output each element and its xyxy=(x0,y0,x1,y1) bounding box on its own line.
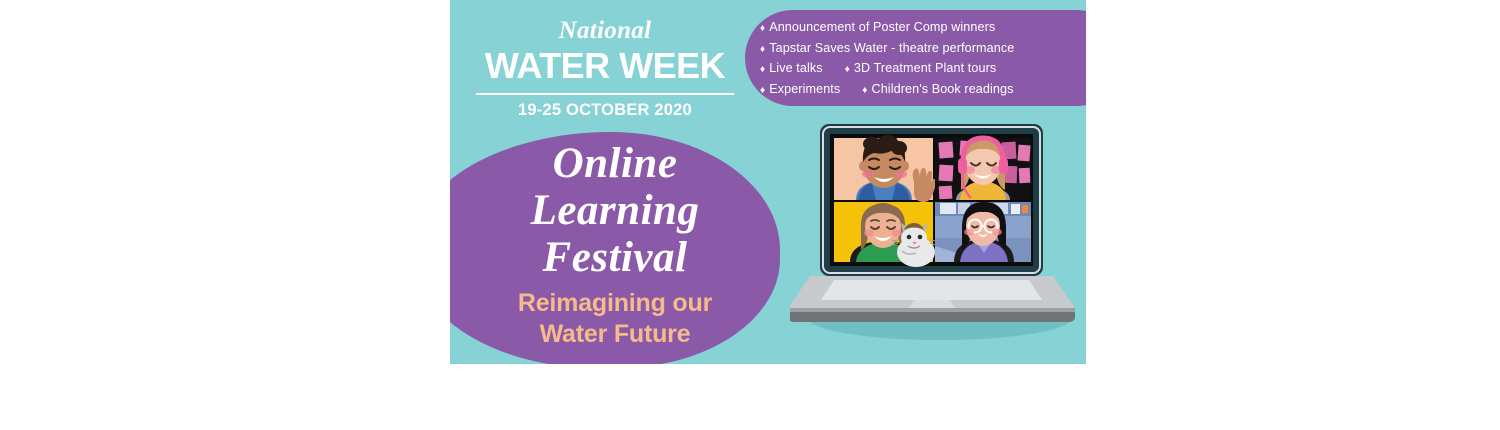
diamond-bullet-icon: ♦ xyxy=(760,81,765,101)
list-item: ♦ 3D Treatment Plant tours xyxy=(845,59,997,80)
program-highlight-row: ♦ Announcement of Poster Comp winners xyxy=(760,18,1086,39)
laptop-illustration xyxy=(790,120,1086,350)
logo-divider-rule xyxy=(476,93,734,95)
logo-water-week-word: WATER WEEK xyxy=(470,45,740,87)
logo-dates: 19-25 OCTOBER 2020 xyxy=(470,100,740,120)
list-item-label: 3D Treatment Plant tours xyxy=(854,59,996,79)
video-tile-boy-waving xyxy=(834,135,937,202)
video-tile-girl-glasses xyxy=(935,202,1031,262)
logo-national-word: National xyxy=(470,16,740,46)
festival-title-line-1: Online xyxy=(480,140,750,187)
list-item: ♦ Tapstar Saves Water - theatre performa… xyxy=(760,39,1014,60)
festival-title-group: Online Learning Festival Reimagining our… xyxy=(480,140,750,350)
festival-title-line-3: Festival xyxy=(480,234,750,281)
diamond-bullet-icon: ♦ xyxy=(760,60,765,80)
list-item-label: Experiments xyxy=(769,80,840,100)
laptop-base xyxy=(790,276,1075,322)
diamond-bullet-icon: ♦ xyxy=(845,60,850,80)
diamond-bullet-icon: ♦ xyxy=(760,19,765,39)
program-highlight-row: ♦ Tapstar Saves Water - theatre performa… xyxy=(760,39,1086,60)
festival-tagline: Reimagining our Water Future xyxy=(480,288,750,350)
national-water-week-banner: Online Learning Festival Reimagining our… xyxy=(450,0,1086,364)
program-highlight-row: ♦ Experiments ♦ Children's Book readings xyxy=(760,80,1086,101)
video-tile-woman-with-cat xyxy=(834,202,936,267)
list-item: ♦ Experiments xyxy=(760,80,840,101)
list-item: ♦ Live talks xyxy=(760,59,823,80)
list-item-label: Live talks xyxy=(769,59,823,79)
list-item: ♦ Children's Book readings xyxy=(862,80,1013,101)
video-tile-girl-headphones xyxy=(935,138,1031,200)
festival-tagline-line-2: Water Future xyxy=(480,319,750,350)
program-highlight-row: ♦ Live talks ♦ 3D Treatment Plant tours xyxy=(760,59,1086,80)
diamond-bullet-icon: ♦ xyxy=(760,40,765,60)
program-highlights-list: ♦ Announcement of Poster Comp winners ♦ … xyxy=(760,18,1086,100)
list-item: ♦ Announcement of Poster Comp winners xyxy=(760,18,995,39)
list-item-label: Children's Book readings xyxy=(872,80,1014,100)
screenshot-canvas: Online Learning Festival Reimagining our… xyxy=(0,0,1500,430)
diamond-bullet-icon: ♦ xyxy=(862,81,867,101)
list-item-label: Announcement of Poster Comp winners xyxy=(769,18,995,38)
national-water-week-logo: National WATER WEEK 19-25 OCTOBER 2020 xyxy=(470,16,740,120)
list-item-label: Tapstar Saves Water - theatre performanc… xyxy=(769,39,1014,59)
festival-title-line-2: Learning xyxy=(480,187,750,234)
festival-tagline-line-1: Reimagining our xyxy=(480,288,750,319)
